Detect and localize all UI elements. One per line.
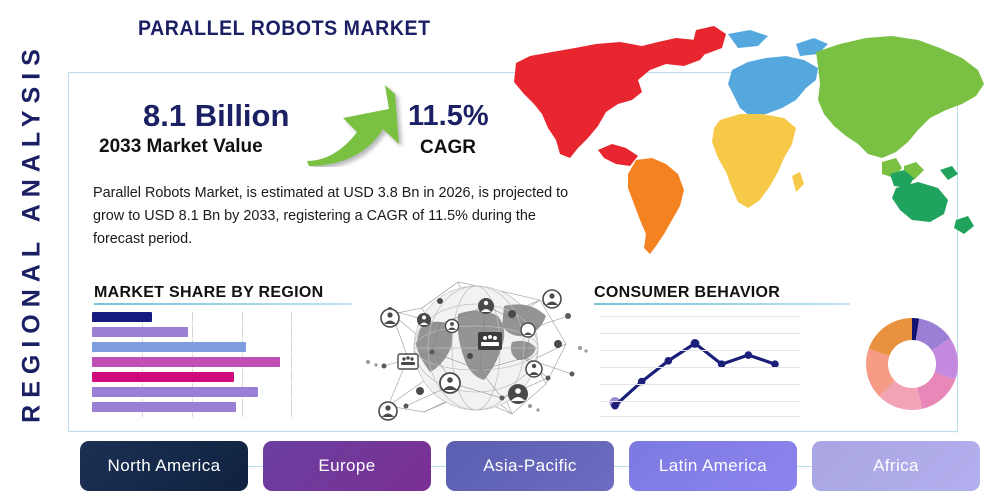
region-button-africa[interactable]: Africa [812, 441, 980, 491]
bar-gap [92, 323, 292, 324]
region-button-europe[interactable]: Europe [263, 441, 431, 491]
bar-gap [92, 353, 292, 354]
global-network-globe-icon [362, 266, 590, 428]
page-title: PARALLEL ROBOTS MARKET [138, 17, 431, 41]
world-map-icon [500, 8, 1000, 258]
market-share-heading: MARKET SHARE BY REGION [94, 284, 323, 302]
bar-gap [92, 338, 292, 339]
line-chart-gridlines [600, 312, 800, 417]
region-button-asia-pacific[interactable]: Asia-Pacific [446, 441, 614, 491]
bar-row [92, 372, 234, 382]
donut-chart-icon [857, 309, 967, 419]
infographic-root: REGIONAL ANALYSIS PARALLEL ROBOTS MARKET… [0, 0, 1000, 500]
market-value-figure: 8.1 Billion [143, 98, 289, 134]
donut-segment [869, 318, 912, 356]
market-value-caption: 2033 Market Value [99, 136, 263, 158]
region-button-latin-america[interactable]: Latin America [629, 441, 797, 491]
region-button-label: Latin America [659, 456, 767, 476]
vertical-section-label: REGIONAL ANALYSIS [18, 33, 47, 433]
market-share-bar-chart [92, 312, 292, 417]
consumer-behavior-line-chart [600, 312, 800, 417]
region-button-row: North AmericaEuropeAsia-PacificLatin Ame… [80, 441, 980, 491]
bar-gap [92, 398, 292, 399]
market-share-rule [94, 303, 352, 305]
region-button-label: Europe [318, 456, 375, 476]
region-button-label: Asia-Pacific [483, 456, 577, 476]
region-button-label: North America [108, 456, 221, 476]
bar-row [92, 357, 280, 367]
cagr-caption: CAGR [420, 137, 476, 159]
bar-gap [92, 383, 292, 384]
bar-row [92, 327, 188, 337]
bar-row [92, 342, 246, 352]
donut-segment [917, 372, 955, 409]
region-button-label: Africa [873, 456, 919, 476]
growth-arrow-icon [303, 82, 408, 167]
bar-row [92, 312, 152, 322]
consumer-behavior-rule [594, 303, 850, 305]
cagr-figure: 11.5% [408, 100, 489, 133]
bar-row [92, 387, 258, 397]
bar-row [92, 402, 236, 412]
consumer-behavior-heading: CONSUMER BEHAVIOR [594, 284, 780, 302]
region-button-north-america[interactable]: North America [80, 441, 248, 491]
bar-gap [92, 368, 292, 369]
